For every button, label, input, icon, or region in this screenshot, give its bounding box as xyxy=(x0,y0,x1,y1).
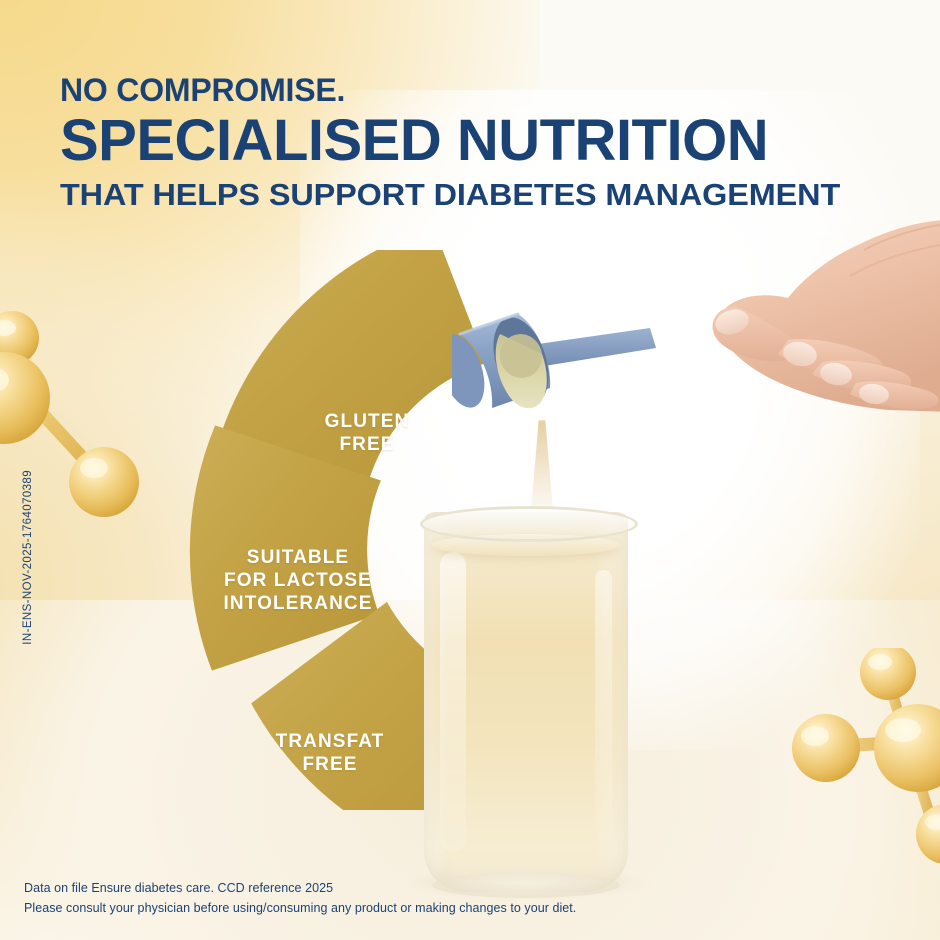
badge-label-lactose-intolerance: SUITABLEFOR LACTOSEINTOLERANCE xyxy=(192,546,404,616)
headline-line-3: THAT HELPS SUPPORT DIABETES MANAGEMENT xyxy=(60,179,840,210)
oil-molecule-graphic-right xyxy=(790,648,940,883)
glass-rim xyxy=(420,506,638,542)
headline-line-1: NO COMPROMISE. xyxy=(60,74,807,106)
poster-canvas: NO COMPROMISE. SPECIALISED NUTRITION THA… xyxy=(0,0,940,940)
badge-label-transfat-free: TRANSFATFREE xyxy=(236,730,424,776)
glass-of-nutrition-drink xyxy=(424,512,628,892)
badge-label-gluten-free: GLUTENFREE xyxy=(282,410,452,456)
glass-highlight-right xyxy=(595,570,612,840)
footer-disclaimer: Data on file Ensure diabetes care. CCD r… xyxy=(24,879,576,918)
footer-line-1: Data on file Ensure diabetes care. CCD r… xyxy=(24,879,576,898)
headline-block: NO COMPROMISE. SPECIALISED NUTRITION THA… xyxy=(60,74,807,210)
measuring-scoop xyxy=(452,296,682,451)
hand-holding-scoop xyxy=(650,214,940,449)
footer-line-2: Please consult your physician before usi… xyxy=(24,899,576,918)
headline-line-2: SPECIALISED NUTRITION xyxy=(60,111,807,171)
glass-highlight-left xyxy=(440,552,466,852)
reference-code: IN-ENS-NOV-2025-1764070389 xyxy=(22,470,34,645)
